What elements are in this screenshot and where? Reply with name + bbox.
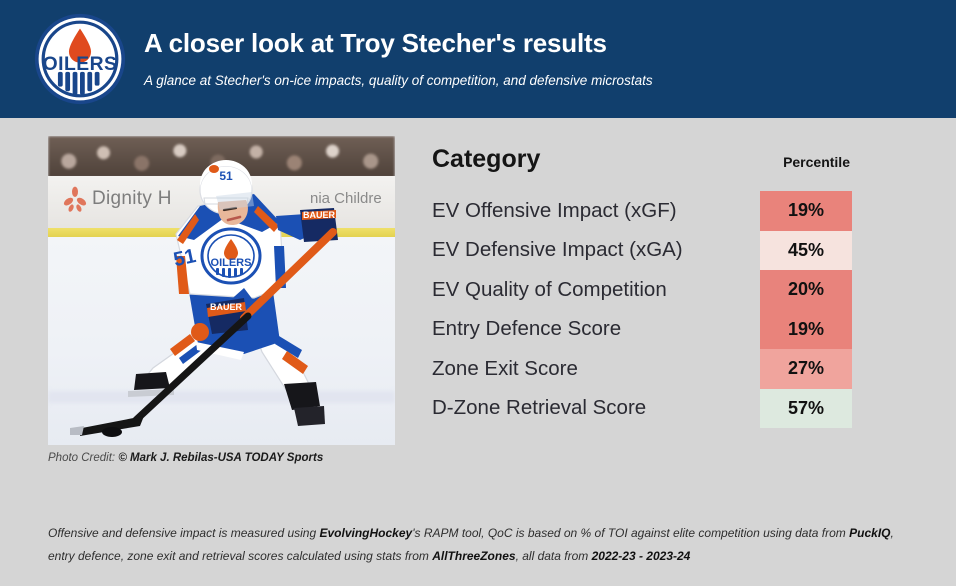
stats-table: Category Percentile EV Offensive Impact …: [432, 145, 852, 428]
footnote-part-2: 's RAPM tool, QoC is based on % of TOI a…: [412, 526, 849, 540]
footnote-source-evolvinghockey: EvolvingHockey: [319, 526, 412, 540]
svg-text:BAUER: BAUER: [210, 302, 243, 312]
row-percentile-cell: 45%: [760, 231, 852, 271]
header-banner: OILERS A closer look at Troy Stecher's r…: [0, 0, 956, 118]
helmet-number: 51: [219, 169, 233, 183]
footnote-source-allthreezones: AllThreeZones: [432, 549, 515, 563]
oilers-logo: OILERS: [28, 13, 132, 105]
table-row: Entry Defence Score19%: [432, 310, 852, 350]
row-category-label: D-Zone Retrieval Score: [432, 396, 646, 420]
column-header-percentile: Percentile: [783, 154, 850, 170]
footnote-source-puckiq: PuckIQ: [849, 526, 890, 540]
footnote-part-1: Offensive and defensive impact is measur…: [48, 526, 319, 540]
footnote-part-4: , all data from: [516, 549, 592, 563]
row-category-label: Zone Exit Score: [432, 357, 578, 381]
row-category-label: EV Quality of Competition: [432, 278, 667, 302]
row-percentile-cell: 27%: [760, 349, 852, 389]
footnote: Offensive and defensive impact is measur…: [48, 522, 910, 568]
table-header-row: Category Percentile: [432, 145, 852, 191]
photo-credit-prefix: Photo Credit:: [48, 452, 118, 464]
row-percentile-cell: 19%: [760, 310, 852, 350]
table-row: EV Offensive Impact (xGF)19%: [432, 191, 852, 231]
row-percentile-cell: 20%: [760, 270, 852, 310]
photo-block: Dignity H nia Childre: [48, 136, 395, 464]
jersey-number-sleeve: 51: [172, 245, 198, 271]
player-photo: Dignity H nia Childre: [48, 136, 395, 445]
jersey-crest-wordmark: OILERS: [211, 257, 252, 269]
hockey-player-figure: OILERS 51 BAUER: [48, 136, 395, 445]
row-category-label: Entry Defence Score: [432, 317, 621, 341]
oilers-wordmark: OILERS: [43, 54, 118, 75]
table-row: EV Quality of Competition20%: [432, 270, 852, 310]
photo-credit-source: Mark J. Rebilas-USA TODAY Sports: [130, 452, 323, 464]
footnote-seasons: 2022-23 - 2023-24: [592, 549, 691, 563]
column-header-category: Category: [432, 145, 540, 174]
header-text-block: A closer look at Troy Stecher's results …: [144, 28, 653, 91]
row-percentile-cell: 57%: [760, 389, 852, 429]
page-title: A closer look at Troy Stecher's results: [144, 28, 653, 58]
row-category-label: EV Offensive Impact (xGF): [432, 199, 677, 223]
page-subtitle: A glance at Stecher's on-ice impacts, qu…: [144, 72, 653, 89]
infographic-page: OILERS A closer look at Troy Stecher's r…: [0, 0, 956, 586]
photo-credit-symbol: ©: [118, 452, 126, 464]
table-row: EV Defensive Impact (xGA)45%: [432, 231, 852, 271]
row-percentile-cell: 19%: [760, 191, 852, 231]
table-row: Zone Exit Score27%: [432, 349, 852, 389]
table-body: EV Offensive Impact (xGF)19%EV Defensive…: [432, 191, 852, 428]
photo-credit: Photo Credit: © Mark J. Rebilas-USA TODA…: [48, 452, 395, 464]
row-category-label: EV Defensive Impact (xGA): [432, 238, 683, 262]
oilers-logo-icon: OILERS: [34, 13, 126, 105]
table-row: D-Zone Retrieval Score57%: [432, 389, 852, 429]
svg-text:BAUER: BAUER: [303, 210, 336, 220]
